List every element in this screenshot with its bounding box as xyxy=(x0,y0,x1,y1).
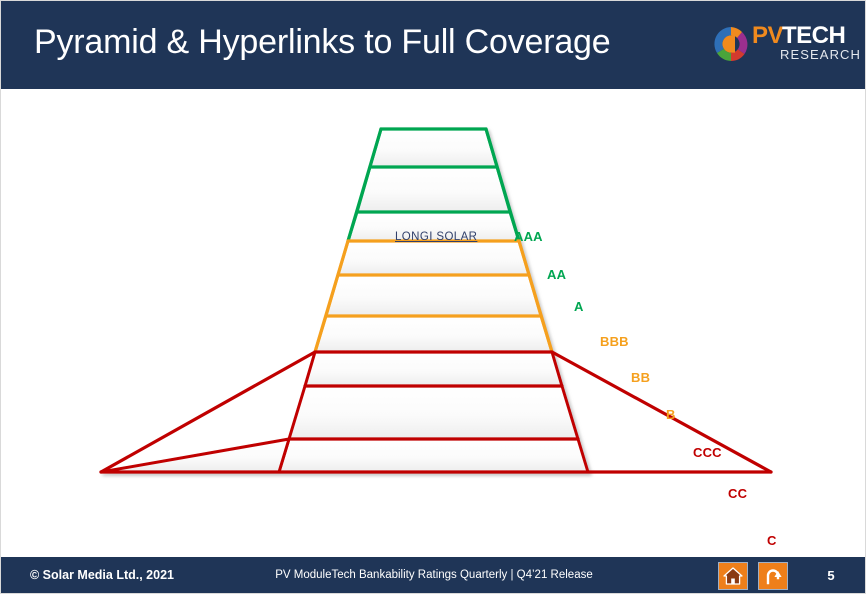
tier-label-bbb: BBB xyxy=(600,334,629,349)
pv-tech-circle-icon xyxy=(711,24,751,64)
tier-label-cc: CC xyxy=(728,486,747,501)
logo-tech-text: TECH xyxy=(782,23,845,49)
pyramid-tier-ccc xyxy=(305,352,562,386)
tier-label-c: C xyxy=(767,533,777,548)
tier-label-b: B xyxy=(666,407,676,422)
slide-header: Pyramid & Hyperlinks to Full Coverage PV… xyxy=(1,1,866,89)
pyramid-tier-aaa xyxy=(370,129,497,167)
tier-label-bb: BB xyxy=(631,370,650,385)
pyramid-tier-b xyxy=(315,316,552,352)
slide-body: AAA AA A BBB BB B CCC CC C LONGI SOLAR P… xyxy=(1,89,866,549)
tier-label-a: A xyxy=(574,299,584,314)
logo-research-text: RESEARCH xyxy=(780,48,861,62)
page-number: 5 xyxy=(819,568,843,583)
u-turn-back-icon xyxy=(759,565,787,587)
longi-solar-hyperlink[interactable]: LONGI SOLAR xyxy=(395,231,477,243)
tier-label-aaa: AAA xyxy=(514,229,543,244)
pyramid-tier-bbb xyxy=(338,241,529,275)
ratings-pyramid: AAA AA A BBB BB B CCC CC C LONGI SOLAR xyxy=(1,89,866,489)
tier-label-ccc: CCC xyxy=(693,445,722,460)
home-icon xyxy=(719,565,747,587)
tier-label-aa: AA xyxy=(547,267,566,282)
home-button[interactable] xyxy=(718,562,748,590)
slide-canvas: Pyramid & Hyperlinks to Full Coverage PV… xyxy=(0,0,866,594)
pyramid-graphic xyxy=(1,89,866,489)
logo-pv-text: PV xyxy=(752,23,783,49)
logo-wordmark: PV TECH RESEARCH xyxy=(752,23,858,67)
pyramid-tier-bb xyxy=(326,275,541,316)
page-title: Pyramid & Hyperlinks to Full Coverage xyxy=(34,18,694,66)
back-button[interactable] xyxy=(758,562,788,590)
pyramid-tier-aa xyxy=(357,167,510,212)
pyramid-tier-cc xyxy=(289,386,578,439)
pv-tech-research-logo: PV TECH RESEARCH xyxy=(711,19,857,71)
